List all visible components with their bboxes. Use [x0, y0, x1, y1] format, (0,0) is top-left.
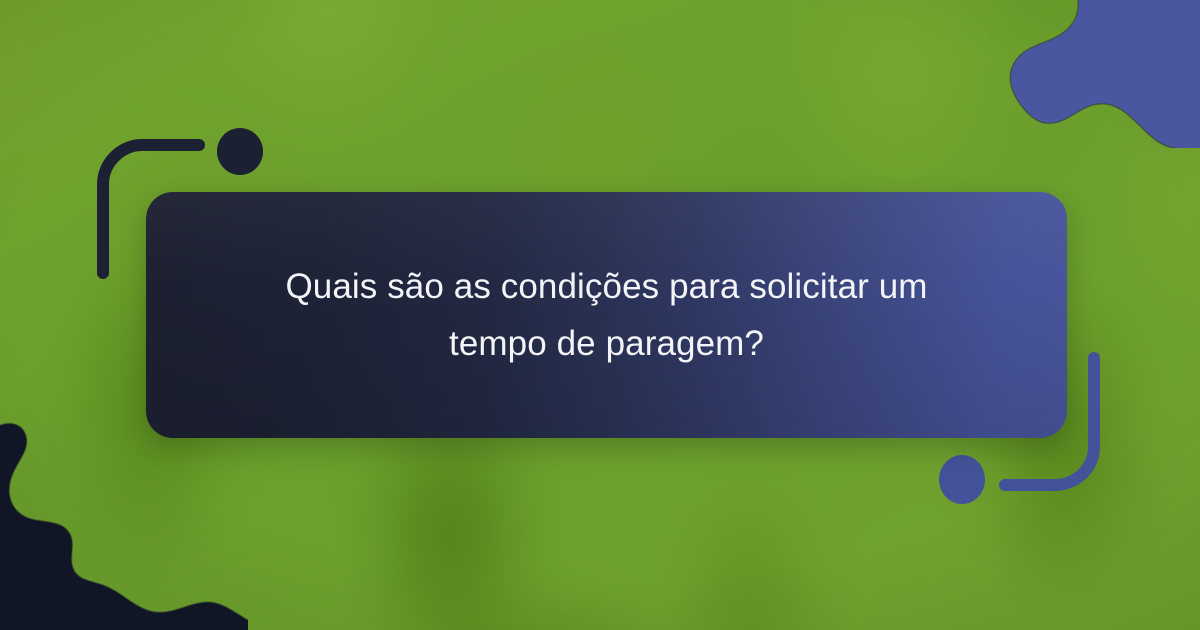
- question-text: Quais são as condições para solicitar um…: [223, 258, 991, 372]
- question-card-banner: Quais são as condições para solicitar um…: [0, 0, 1200, 630]
- circle-dot-top-left-icon: [217, 128, 263, 175]
- question-card: Quais são as condições para solicitar um…: [146, 192, 1067, 438]
- circle-dot-bottom-right-icon: [939, 455, 985, 504]
